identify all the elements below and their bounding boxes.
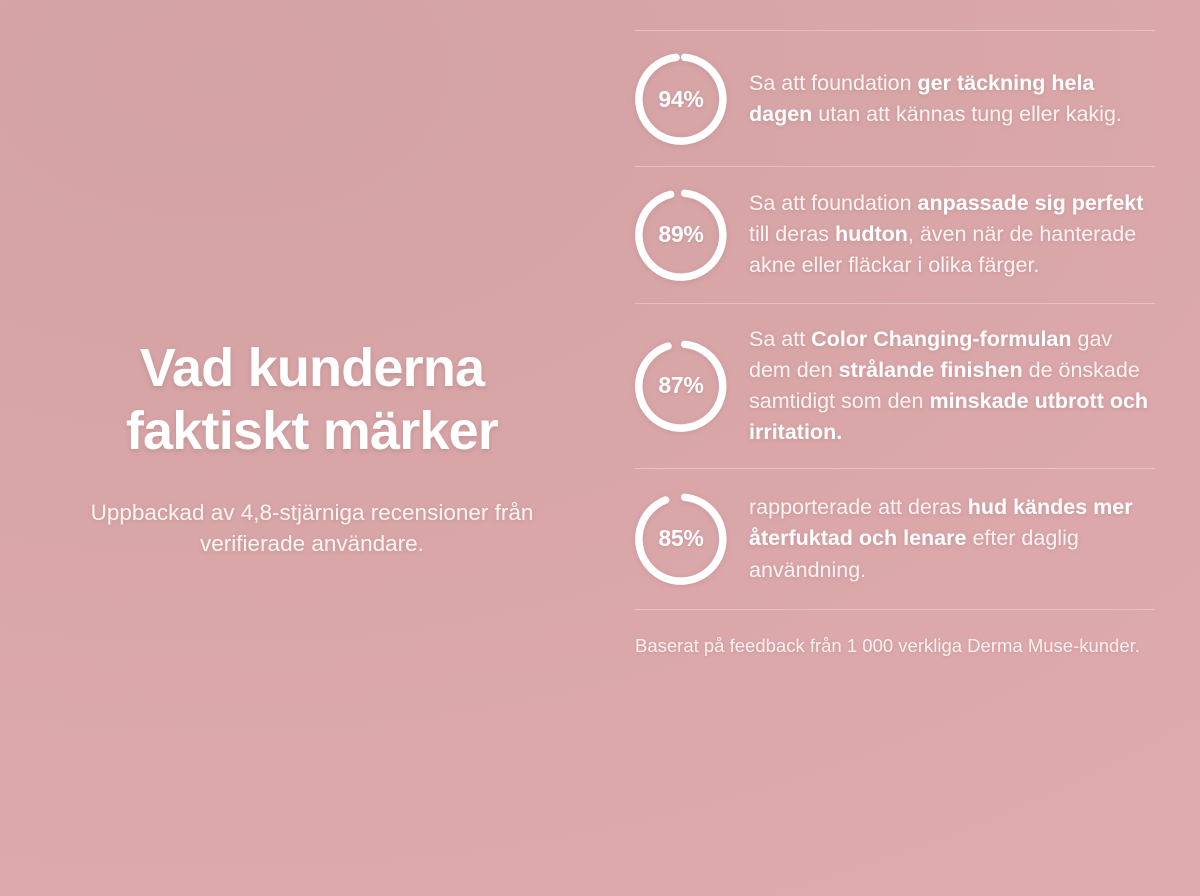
stats-panel: 94% Sa att foundation ger täckning hela … [612, 0, 1200, 896]
donut-chart-87: 87% [635, 340, 727, 432]
stat-description: Sa att Color Changing-formulan gav dem d… [749, 324, 1155, 449]
stat-description: Sa att foundation ger täckning hela dage… [749, 68, 1155, 130]
donut-chart-85: 85% [635, 493, 727, 585]
page-title: Vad kunderna faktiskt märker [52, 337, 572, 462]
donut-value: 89% [658, 221, 703, 248]
stat-row: 85% rapporterade att deras hud kändes me… [635, 469, 1155, 609]
stat-row: 89% Sa att foundation anpassade sig perf… [635, 167, 1155, 303]
donut-chart-89: 89% [635, 189, 727, 281]
stat-row: 94% Sa att foundation ger täckning hela … [635, 31, 1155, 166]
stat-description: rapporterade att deras hud kändes mer åt… [749, 492, 1155, 586]
infographic-stage: Vad kunderna faktiskt märker Uppbackad a… [0, 0, 1200, 896]
stat-row: 87% Sa att Color Changing-formulan gav d… [635, 304, 1155, 469]
donut-chart-94: 94% [635, 53, 727, 145]
footnote: Baserat på feedback från 1 000 verkliga … [635, 610, 1155, 659]
donut-value: 94% [658, 86, 703, 113]
page-subtitle: Uppbackad av 4,8-stjärniga recensioner f… [52, 497, 572, 559]
donut-value: 85% [658, 525, 703, 552]
stat-description: Sa att foundation anpassade sig perfekt … [749, 188, 1155, 282]
headline-panel: Vad kunderna faktiskt märker Uppbackad a… [0, 0, 612, 896]
donut-value: 87% [658, 372, 703, 399]
